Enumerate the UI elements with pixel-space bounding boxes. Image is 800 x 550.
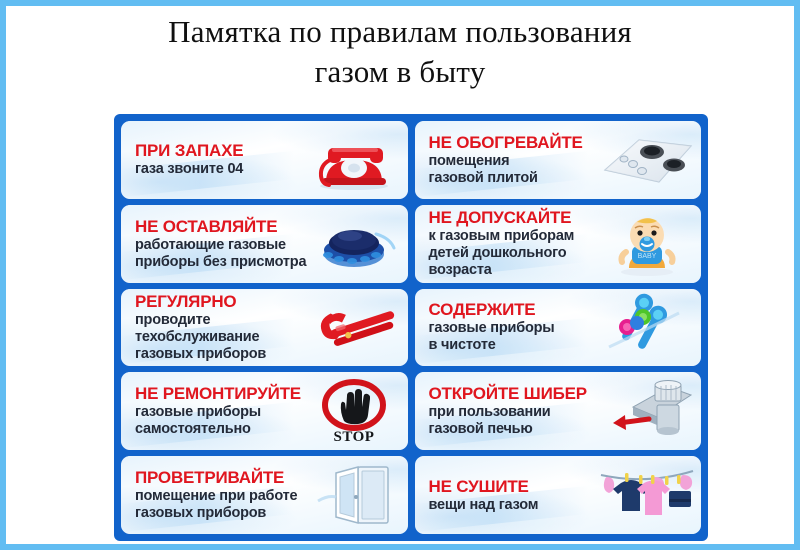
rule-line: при пользовании (429, 404, 598, 421)
rule-line: помещение при работе (135, 488, 304, 505)
baby-icon: BABY (599, 210, 695, 278)
rule-headline: ПРОВЕТРИВАЙТЕ (135, 468, 304, 488)
rule-card-open-damper[interactable]: ОТКРОЙТЕ ШИБЕР при пользовании газовой п… (415, 372, 702, 450)
page-title: Памятка по правилам пользования газом в … (6, 12, 794, 92)
rule-card-regular-service[interactable]: РЕГУЛЯРНО проводите техобслуживание газо… (121, 289, 408, 367)
rule-line: проводите (135, 312, 304, 329)
rules-row: ПРОВЕТРИВАЙТЕ помещение при работе газов… (121, 456, 701, 534)
rules-row: НЕ ОСТАВЛЯЙТЕ работающие газовые приборы… (121, 205, 701, 283)
rule-line: помещения (429, 153, 598, 170)
rule-line: техобслуживание (135, 329, 304, 346)
gas-safety-poster: Памятка по правилам пользования газом в … (0, 0, 800, 550)
rule-text: ОТКРОЙТЕ ШИБЕР при пользовании газовой п… (429, 384, 598, 438)
stop-label: STOP (333, 429, 374, 445)
rule-line: газовые приборы (429, 320, 598, 337)
rule-text: НЕ РЕМОНТИРУЙТЕ газовые приборы самостоя… (135, 384, 304, 438)
rule-line: самостоятельно (135, 421, 304, 438)
rule-line: газовой печью (429, 421, 598, 438)
cleaning-brushes-icon (599, 293, 695, 361)
rule-line: газовых приборов (135, 505, 304, 522)
gas-cooktop-icon (599, 126, 695, 194)
rule-card-no-self-repair[interactable]: НЕ РЕМОНТИРУЙТЕ газовые приборы самостоя… (121, 372, 408, 450)
rule-line: работающие газовые (135, 237, 304, 254)
rules-row: ПРИ ЗАПАХЕ газа звоните 04 (121, 121, 701, 199)
rule-line: возраста (429, 262, 598, 279)
gas-burner-flame-icon (306, 210, 402, 278)
rule-line: газа звоните 04 (135, 161, 304, 178)
rule-text: НЕ ДОПУСКАЙТЕ к газовым приборам детей д… (429, 208, 598, 279)
rule-line: к газовым приборам (429, 228, 598, 245)
rule-headline: ПРИ ЗАПАХЕ (135, 141, 304, 161)
rule-text: НЕ СУШИТЕ вещи над газом (429, 477, 598, 514)
red-pipe-wrench-icon (306, 293, 402, 361)
rule-headline: ОТКРОЙТЕ ШИБЕР (429, 384, 598, 404)
rule-card-keep-children-away[interactable]: НЕ ДОПУСКАЙТЕ к газовым приборам детей д… (415, 205, 702, 283)
red-rotary-telephone-icon (306, 126, 402, 194)
rule-text: НЕ ОБОГРЕВАЙТЕ помещения газовой плитой (429, 133, 598, 187)
rule-card-gas-smell[interactable]: ПРИ ЗАПАХЕ газа звоните 04 (121, 121, 408, 199)
rule-headline: НЕ СУШИТЕ (429, 477, 598, 497)
rule-card-no-drying[interactable]: НЕ СУШИТЕ вещи над газом (415, 456, 702, 534)
rules-row: РЕГУЛЯРНО проводите техобслуживание газо… (121, 289, 701, 367)
stop-hand-sign-icon: STOP (306, 377, 402, 445)
rule-line: приборы без присмотра (135, 254, 304, 271)
rule-text: РЕГУЛЯРНО проводите техобслуживание газо… (135, 292, 304, 363)
open-window-icon (306, 461, 402, 529)
rule-line: в чистоте (429, 337, 598, 354)
rule-headline: НЕ ОБОГРЕВАЙТЕ (429, 133, 598, 153)
rule-card-ventilate[interactable]: ПРОВЕТРИВАЙТЕ помещение при работе газов… (121, 456, 408, 534)
page-title-line-1: Памятка по правилам пользования (168, 14, 632, 49)
rule-line: газовые приборы (135, 404, 304, 421)
rule-headline: НЕ ДОПУСКАЙТЕ (429, 208, 598, 228)
rule-headline: РЕГУЛЯРНО (135, 292, 304, 312)
rule-line: газовых приборов (135, 346, 304, 363)
rule-text: ПРОВЕТРИВАЙТЕ помещение при работе газов… (135, 468, 304, 522)
chimney-damper-icon (599, 377, 695, 445)
page-title-line-2: газом в быту (46, 52, 754, 92)
rule-text: СОДЕРЖИТЕ газовые приборы в чистоте (429, 300, 598, 354)
svg-text:BABY: BABY (638, 253, 657, 260)
rule-card-no-heating[interactable]: НЕ ОБОГРЕВАЙТЕ помещения газовой плитой (415, 121, 702, 199)
rules-board: ПРИ ЗАПАХЕ газа звоните 04 (114, 114, 708, 541)
rule-headline: СОДЕРЖИТЕ (429, 300, 598, 320)
rule-text: ПРИ ЗАПАХЕ газа звоните 04 (135, 141, 304, 178)
rule-line: детей дошкольного (429, 245, 598, 262)
rule-text: НЕ ОСТАВЛЯЙТЕ работающие газовые приборы… (135, 217, 304, 271)
rule-line: газовой плитой (429, 170, 598, 187)
rule-line: вещи над газом (429, 497, 598, 514)
rule-card-keep-clean[interactable]: СОДЕРЖИТЕ газовые приборы в чистоте (415, 289, 702, 367)
rule-card-unattended[interactable]: НЕ ОСТАВЛЯЙТЕ работающие газовые приборы… (121, 205, 408, 283)
rule-headline: НЕ РЕМОНТИРУЙТЕ (135, 384, 304, 404)
clothesline-laundry-icon (599, 461, 695, 529)
rules-row: НЕ РЕМОНТИРУЙТЕ газовые приборы самостоя… (121, 372, 701, 450)
rule-headline: НЕ ОСТАВЛЯЙТЕ (135, 217, 304, 237)
